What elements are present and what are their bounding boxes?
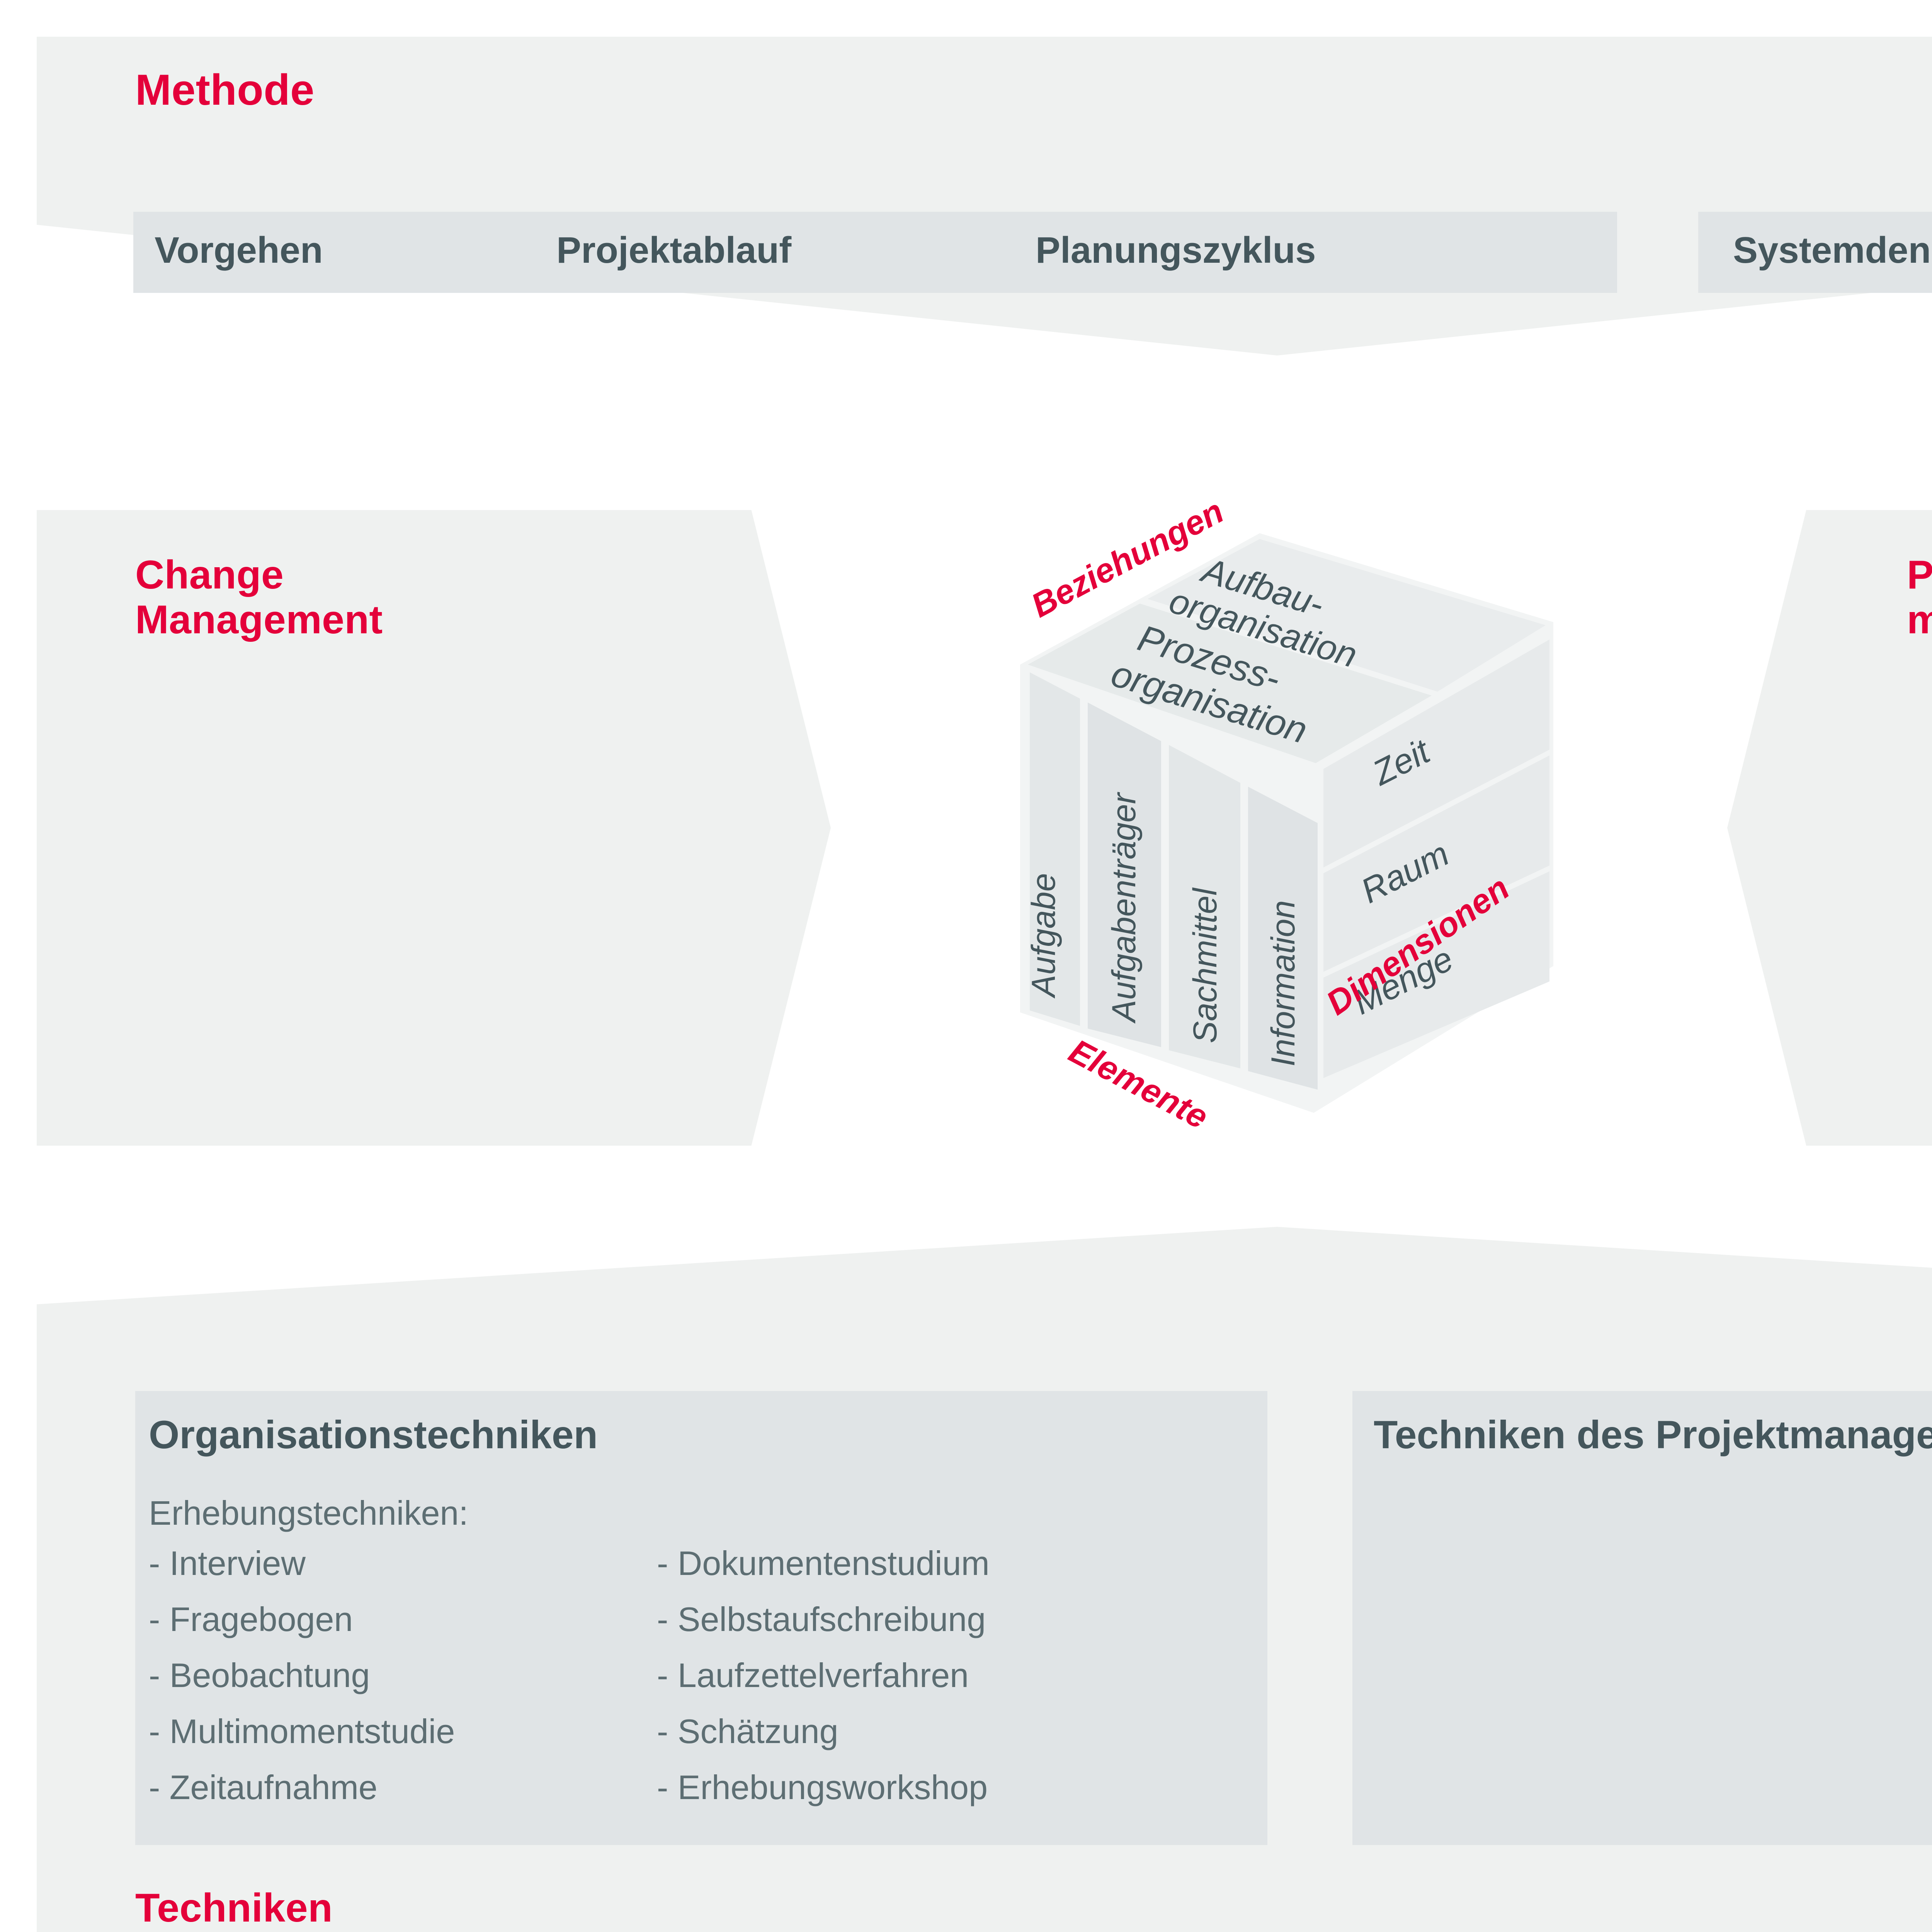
- organisationstechniken-heading: Organisationstechniken: [149, 1412, 598, 1458]
- organisations-cube: Aufbau- organisation Prozess- organisati…: [989, 502, 1592, 1151]
- erhebungstechnik-item: - Zeitaufnahme: [149, 1768, 378, 1807]
- erhebungstechnik-item: - Beobachtung: [149, 1656, 370, 1695]
- cube-front-label-sachmittel: Sachmittel: [1187, 887, 1224, 1043]
- erhebungstechnik-item: - Erhebungsworkshop: [657, 1768, 988, 1807]
- projektmanagement-panel: [1727, 510, 1932, 1146]
- diagram-canvas: Methode Vorgehen Projektablauf Planungsz…: [0, 0, 1932, 1932]
- erhebungstechnik-item: - Laufzettelverfahren: [657, 1656, 969, 1695]
- erhebungstechnik-item: - Selbstaufschreibung: [657, 1600, 986, 1639]
- projektmanagement-title: Projekt- management: [1907, 553, 1932, 643]
- methode-item-systemdenken[interactable]: Systemdenken: [1733, 229, 1932, 272]
- methode-item-projektablauf[interactable]: Projektablauf: [556, 229, 791, 272]
- erhebungstechnik-item: - Dokumentenstudium: [657, 1544, 990, 1583]
- methode-item-vorgehen[interactable]: Vorgehen: [155, 229, 323, 272]
- organisationstechniken-subheading: Erhebungstechniken:: [149, 1493, 468, 1533]
- projektmanagement-techniken-heading: Techniken des Projektmanagements: [1374, 1412, 1932, 1458]
- techniken-title: Techniken: [135, 1886, 333, 1930]
- cube-front-label-aufgabentraeger: Aufgabenträger: [1105, 792, 1143, 1024]
- projektmanagement-techniken-box: [1352, 1391, 1932, 1845]
- erhebungstechnik-item: - Schätzung: [657, 1712, 838, 1751]
- cube-front-label-information: Information: [1265, 900, 1302, 1066]
- erhebungstechnik-item: - Multimomentstudie: [149, 1712, 455, 1751]
- methode-group-a-strip: [133, 212, 1617, 293]
- cube-front-label-aufgabe: Aufgabe: [1025, 873, 1062, 999]
- methode-item-planungszyklus[interactable]: Planungszyklus: [1036, 229, 1316, 272]
- change-management-title: Change Management: [135, 553, 383, 643]
- erhebungstechnik-item: - Fragebogen: [149, 1600, 353, 1639]
- methode-panel: [37, 37, 1932, 355]
- erhebungstechnik-item: - Interview: [149, 1544, 306, 1583]
- methode-title: Methode: [135, 66, 315, 114]
